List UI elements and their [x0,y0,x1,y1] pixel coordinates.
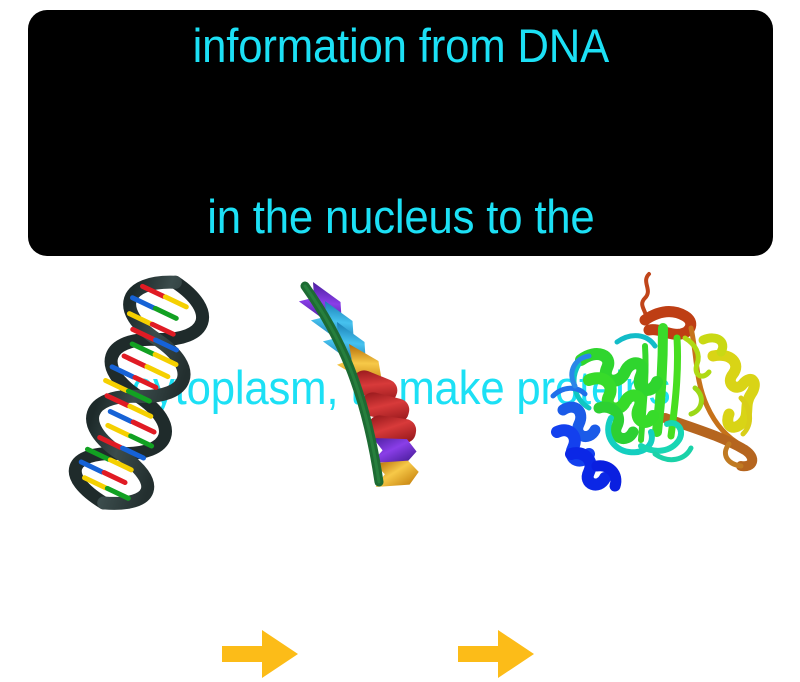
definition-line-3: in the nucleus to the [131,188,670,245]
definition-line-2: information from DNA [131,17,670,74]
dna-figure [42,268,242,503]
dna-double-helix-icon [42,268,242,503]
central-dogma-diagram [0,268,800,503]
mrna-figure [295,268,470,503]
protein-figure [545,268,780,503]
arrow-right-icon-transcription [222,626,298,682]
definition-banner: RNA that transfers information from DNA … [28,10,773,256]
protein-ribbon-icon [545,268,780,503]
mrna-strand-icon [295,268,470,503]
arrow-right-icon-translation [458,626,534,682]
